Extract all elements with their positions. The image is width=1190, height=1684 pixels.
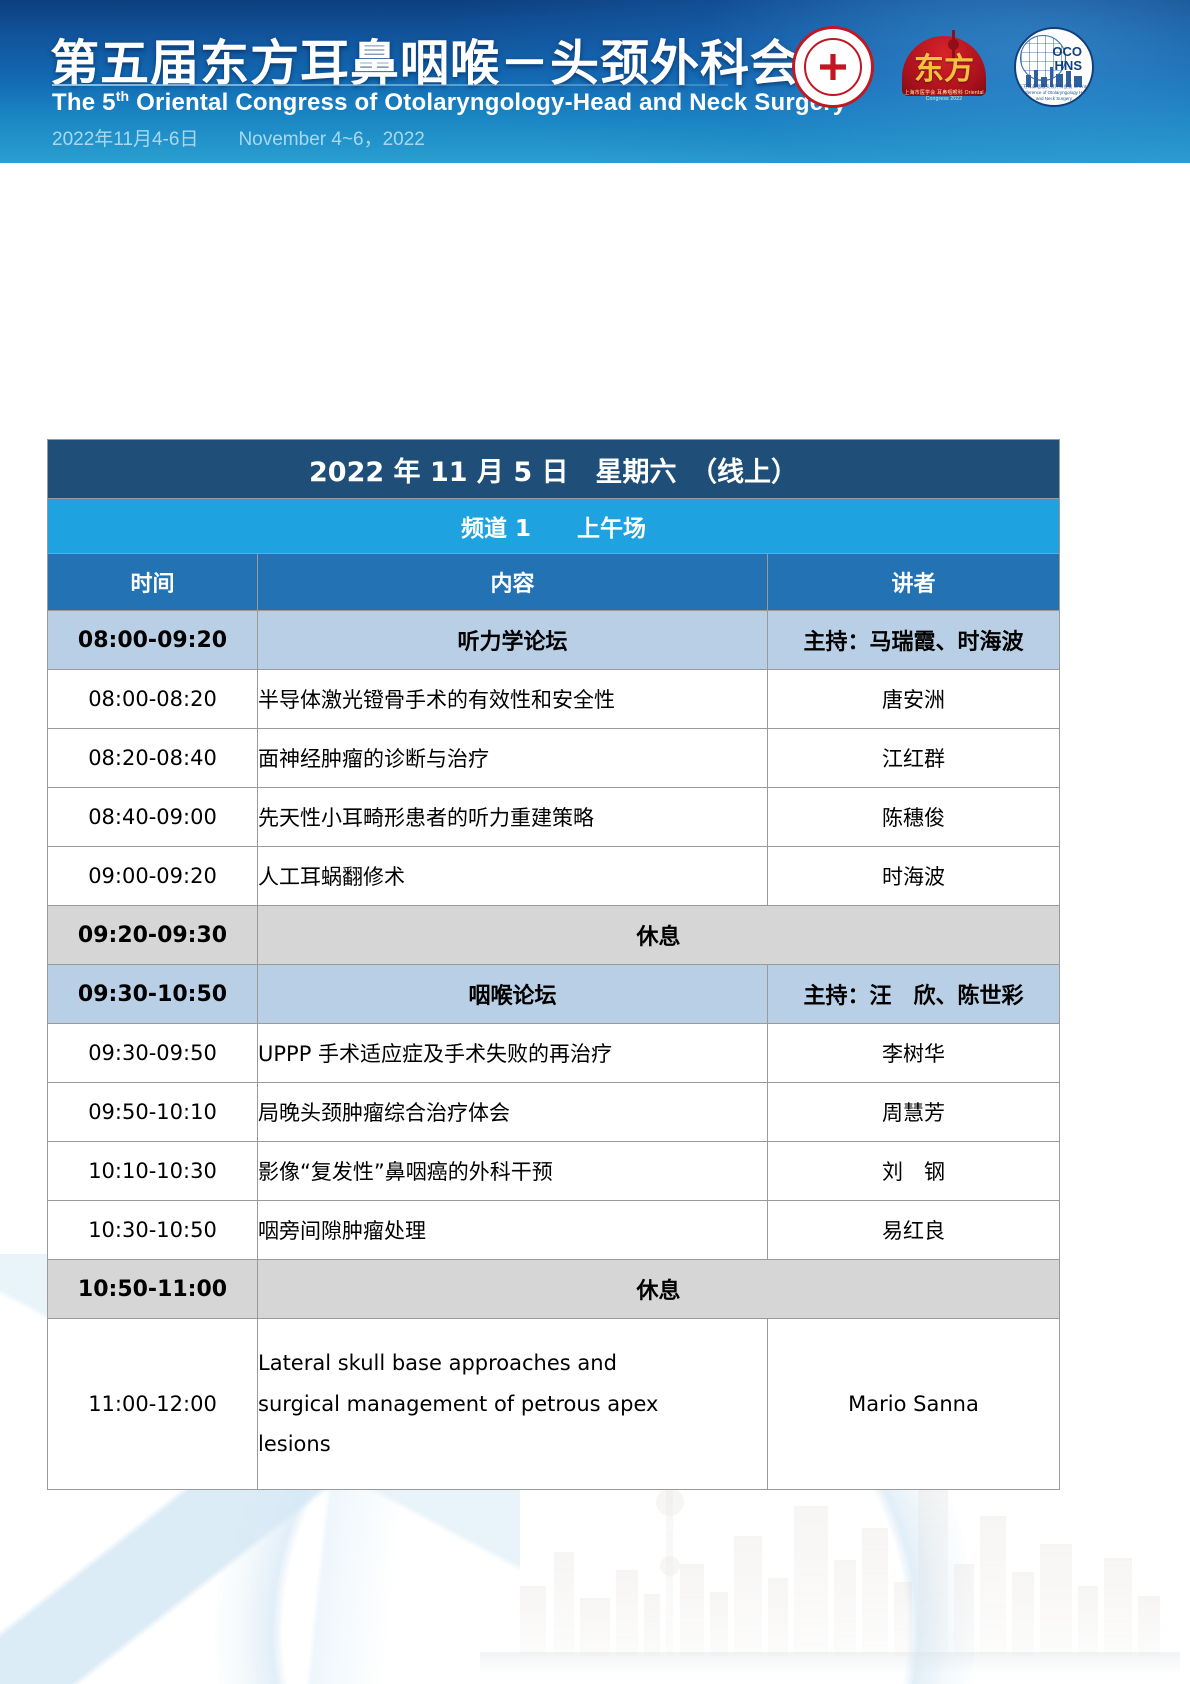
schedule-column-header-row: 时间 内容 讲者 xyxy=(48,554,1060,611)
schedule-date-row: 2022 年 11 月 5 日 星期六 （线上） xyxy=(48,440,1060,499)
talk-speaker: 唐安洲 xyxy=(768,670,1060,729)
talk-time: 10:30-10:50 xyxy=(48,1201,258,1260)
watermark-building xyxy=(894,1582,912,1656)
watermark-building xyxy=(710,1592,728,1656)
talk-title: UPPP 手术适应症及手术失败的再治疗 xyxy=(258,1024,768,1083)
break-time: 09:20-09:30 xyxy=(48,906,258,965)
watermark-building xyxy=(616,1570,638,1656)
schedule-channel-cell: 频道 1 上午场 xyxy=(48,499,1060,554)
dongfang-logo-caption: 上海市医学会 耳鼻咽喉科 Oriental Congress 2022 xyxy=(904,90,984,103)
talk-title-line: Lateral skull base approaches and xyxy=(258,1343,767,1384)
break-time: 10:50-11:00 xyxy=(48,1260,258,1319)
forum-time: 08:00-09:20 xyxy=(48,611,258,670)
talk-title-lines: Lateral skull base approaches and surgic… xyxy=(258,1343,767,1466)
banner-title-en-ordinal: th xyxy=(116,88,130,104)
watermark-building xyxy=(980,1516,1006,1656)
forum-section-row: 09:30-10:50 咽喉论坛 主持：汪 欣、陈世彩 xyxy=(48,965,1060,1024)
conference-banner: 第五届东方耳鼻咽喉－头颈外科会议 The 5th Oriental Congre… xyxy=(0,0,1190,163)
schedule-channel-row: 频道 1 上午场 xyxy=(48,499,1060,554)
banner-date-english: November 4~6，2022 xyxy=(238,129,424,150)
talk-time: 09:00-09:20 xyxy=(48,847,258,906)
watermark-building xyxy=(768,1578,788,1656)
watermark-building xyxy=(644,1594,660,1656)
forum-time: 09:30-10:50 xyxy=(48,965,258,1024)
talk-speaker: 周慧芳 xyxy=(768,1083,1060,1142)
banner-divider xyxy=(52,84,728,86)
talk-title: 影像“复发性”鼻咽癌的外科干预 xyxy=(258,1142,768,1201)
talk-speaker: Mario Sanna xyxy=(768,1319,1060,1490)
forum-moderators: 主持：汪 欣、陈世彩 xyxy=(768,965,1060,1024)
talk-title: Lateral skull base approaches and surgic… xyxy=(258,1319,768,1490)
ocohns-logo-caption: 东方耳鼻咽喉头颈外科会议 Oriental Conference of Otol… xyxy=(1016,84,1092,102)
column-header-time: 时间 xyxy=(48,554,258,611)
talk-title: 咽旁间隙肿瘤处理 xyxy=(258,1201,768,1260)
table-row: 09:00-09:20 人工耳蜗翻修术 时海波 xyxy=(48,847,1060,906)
talk-title: 人工耳蜗翻修术 xyxy=(258,847,768,906)
watermark-building xyxy=(680,1564,704,1656)
talk-speaker: 时海波 xyxy=(768,847,1060,906)
shanghai-medical-association-logo xyxy=(792,26,874,108)
talk-title: 局晚头颈肿瘤综合治疗体会 xyxy=(258,1083,768,1142)
talk-speaker: 江红群 xyxy=(768,729,1060,788)
watermark-building xyxy=(834,1560,856,1656)
ocohns-acronym: OCO HNS xyxy=(1016,45,1092,72)
watermark-building xyxy=(1104,1558,1132,1656)
forum-moderators-text: 主持：马瑞霞、时海波 xyxy=(768,624,1059,656)
page-body: 2022 年 11 月 5 日 星期六 （线上） 频道 1 上午场 时间 内容 … xyxy=(0,163,1190,1684)
column-header-content: 内容 xyxy=(258,554,768,611)
banner-title-en-post: Oriental Congress of Otolaryngology-Head… xyxy=(129,89,846,116)
forum-title: 咽喉论坛 xyxy=(258,965,768,1024)
banner-title-english: The 5th Oriental Congress of Otolaryngol… xyxy=(52,88,846,117)
table-row: 09:30-09:50 UPPP 手术适应症及手术失败的再治疗 李树华 xyxy=(48,1024,1060,1083)
watermark-building xyxy=(1012,1572,1034,1656)
talk-title: 面神经肿瘤的诊断与治疗 xyxy=(258,729,768,788)
talk-title-line: surgical management of petrous apex xyxy=(258,1384,767,1425)
banner-title-en-pre: The 5 xyxy=(52,89,116,116)
dongfang-logo: 东方 上海市医学会 耳鼻咽喉科 Oriental Congress 2022 xyxy=(898,28,990,106)
watermark-building xyxy=(1040,1544,1072,1656)
watermark-building xyxy=(918,1480,948,1656)
talk-speaker: 陈穗俊 xyxy=(768,788,1060,847)
ocohns-line2: HNS xyxy=(1055,58,1082,73)
talk-title-line: lesions xyxy=(258,1424,767,1465)
column-header-speaker: 讲者 xyxy=(768,554,1060,611)
break-label: 休息 xyxy=(258,1260,1060,1319)
watermark-building xyxy=(554,1552,574,1656)
medical-cross-icon xyxy=(820,54,846,80)
talk-time: 08:20-08:40 xyxy=(48,729,258,788)
forum-section-row: 08:00-09:20 听力学论坛 主持：马瑞霞、时海波 xyxy=(48,611,1060,670)
watermark-building xyxy=(862,1528,888,1656)
banner-logo-row: 东方 上海市医学会 耳鼻咽喉科 Oriental Congress 2022 O… xyxy=(792,26,1094,108)
table-row: 08:20-08:40 面神经肿瘤的诊断与治疗 江红群 xyxy=(48,729,1060,788)
talk-speaker: 刘 钢 xyxy=(768,1142,1060,1201)
watermark-water xyxy=(480,1652,1180,1674)
dongfang-glyph: 东方 xyxy=(914,44,974,88)
schedule-table-wrapper: 2022 年 11 月 5 日 星期六 （线上） 频道 1 上午场 时间 内容 … xyxy=(47,439,1059,1490)
table-row: 08:00-08:20 半导体激光镫骨手术的有效性和安全性 唐安洲 xyxy=(48,670,1060,729)
watermark-building xyxy=(734,1536,762,1656)
talk-time: 08:40-09:00 xyxy=(48,788,258,847)
talk-time: 11:00-12:00 xyxy=(48,1319,258,1490)
banner-date-chinese: 2022年11月4-6日 xyxy=(52,129,198,150)
forum-moderators-text: 主持：汪 欣、陈世彩 xyxy=(768,978,1059,1010)
watermark-building xyxy=(1138,1596,1160,1656)
break-row: 10:50-11:00 休息 xyxy=(48,1260,1060,1319)
table-row: 09:50-10:10 局晚头颈肿瘤综合治疗体会 周慧芳 xyxy=(48,1083,1060,1142)
talk-title: 先天性小耳畸形患者的听力重建策略 xyxy=(258,788,768,847)
watermark-building xyxy=(794,1506,828,1656)
watermark-building xyxy=(1078,1586,1098,1656)
talk-time: 10:10-10:30 xyxy=(48,1142,258,1201)
watermark-building xyxy=(954,1564,974,1656)
talk-time: 09:50-10:10 xyxy=(48,1083,258,1142)
break-row: 09:20-09:30 休息 xyxy=(48,906,1060,965)
table-row: 10:10-10:30 影像“复发性”鼻咽癌的外科干预 刘 钢 xyxy=(48,1142,1060,1201)
table-row: 08:40-09:00 先天性小耳畸形患者的听力重建策略 陈穗俊 xyxy=(48,788,1060,847)
watermark-building xyxy=(520,1586,546,1656)
break-label: 休息 xyxy=(258,906,1060,965)
talk-time: 08:00-08:20 xyxy=(48,670,258,729)
schedule-table: 2022 年 11 月 5 日 星期六 （线上） 频道 1 上午场 时间 内容 … xyxy=(47,439,1060,1490)
talk-title: 半导体激光镫骨手术的有效性和安全性 xyxy=(258,670,768,729)
talk-time: 09:30-09:50 xyxy=(48,1024,258,1083)
talk-speaker: 李树华 xyxy=(768,1024,1060,1083)
forum-moderators: 主持：马瑞霞、时海波 xyxy=(768,611,1060,670)
forum-title: 听力学论坛 xyxy=(258,611,768,670)
table-row: 11:00-12:00 Lateral skull base approache… xyxy=(48,1319,1060,1490)
schedule-date-cell: 2022 年 11 月 5 日 星期六 （线上） xyxy=(48,440,1060,499)
banner-dates: 2022年11月4-6日November 4~6，2022 xyxy=(52,124,425,151)
watermark-building xyxy=(580,1598,610,1656)
ocohns-logo: OCO HNS 东方耳鼻咽喉头颈外科会议 Oriental Conference… xyxy=(1014,27,1094,107)
talk-speaker: 易红良 xyxy=(768,1201,1060,1260)
table-row: 10:30-10:50 咽旁间隙肿瘤处理 易红良 xyxy=(48,1201,1060,1260)
